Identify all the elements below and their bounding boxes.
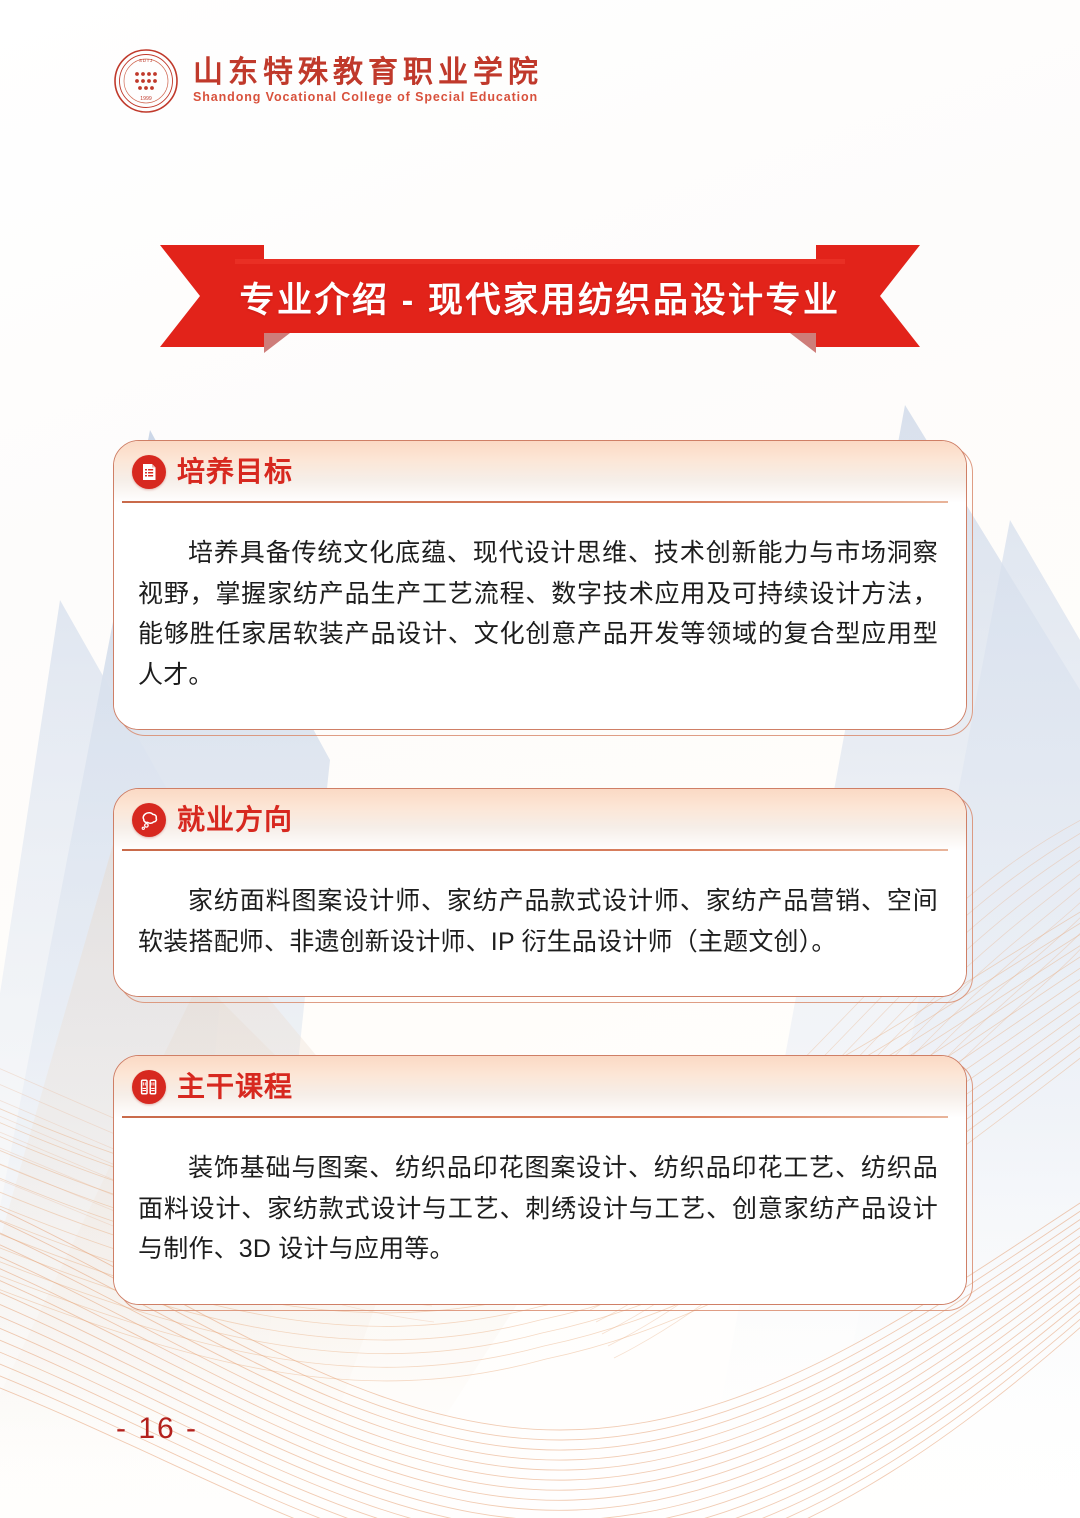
card-header: 就业方向: [114, 789, 966, 851]
card-body: 装饰基础与图案、纺织品印花图案设计、纺织品印花工艺、纺织品面料设计、家纺款式设计…: [114, 1118, 966, 1304]
card-header: 主干课程: [114, 1056, 966, 1118]
page-canvas: 1999 SDTJ 山东特殊教育职业学院 Shandong Vocational…: [0, 0, 1080, 1518]
card-header: 培养目标: [114, 441, 966, 503]
card-title: 就业方向: [177, 806, 293, 834]
svg-text:1999: 1999: [140, 96, 152, 102]
card-inner-frame: 就业方向 家纺面料图案设计师、家纺产品款式设计师、家纺产品营销、空间软装搭配师、…: [113, 788, 967, 997]
document-lines-icon: [132, 455, 166, 489]
card-body-text: 培养具备传统文化底蕴、现代设计思维、技术创新能力与市场洞察视野，掌握家纺产品生产…: [138, 533, 938, 695]
card-body: 培养具备传统文化底蕴、现代设计思维、技术创新能力与市场洞察视野，掌握家纺产品生产…: [114, 503, 966, 729]
college-seal-icon: 1999 SDTJ: [113, 48, 179, 114]
section-banner: 专业介绍 - 现代家用纺织品设计专业: [160, 233, 920, 359]
card-body: 家纺面料图案设计师、家纺产品款式设计师、家纺产品营销、空间软装搭配师、非遗创新设…: [114, 851, 966, 996]
card-body-text: 装饰基础与图案、纺织品印花图案设计、纺织品印花工艺、纺织品面料设计、家纺款式设计…: [138, 1148, 938, 1270]
card-training-objective: 培养目标 培养具备传统文化底蕴、现代设计思维、技术创新能力与市场洞察视野，掌握家…: [113, 440, 967, 730]
card-employment-direction: 就业方向 家纺面料图案设计师、家纺产品款式设计师、家纺产品营销、空间软装搭配师、…: [113, 788, 967, 997]
college-name-cn: 山东特殊教育职业学院: [193, 57, 543, 89]
books-shelf-icon: [132, 1070, 166, 1104]
card-inner-frame: 培养目标 培养具备传统文化底蕴、现代设计思维、技术创新能力与市场洞察视野，掌握家…: [113, 440, 967, 730]
card-inner-frame: 主干课程 装饰基础与图案、纺织品印花图案设计、纺织品印花工艺、纺织品面料设计、家…: [113, 1055, 967, 1305]
banner-title: 专业介绍 - 现代家用纺织品设计专业: [160, 233, 920, 359]
thought-bubble-icon: [132, 803, 166, 837]
content-area: 培养目标 培养具备传统文化底蕴、现代设计思维、技术创新能力与市场洞察视野，掌握家…: [113, 440, 967, 1363]
svg-text:SDTJ: SDTJ: [139, 58, 153, 63]
page-number: - 16 -: [116, 1412, 198, 1446]
card-body-text: 家纺面料图案设计师、家纺产品款式设计师、家纺产品营销、空间软装搭配师、非遗创新设…: [138, 881, 938, 962]
college-header: 1999 SDTJ 山东特殊教育职业学院 Shandong Vocational…: [113, 48, 543, 114]
college-name-en: Shandong Vocational College of Special E…: [193, 91, 543, 105]
card-title: 培养目标: [177, 458, 293, 486]
card-title: 主干课程: [177, 1073, 293, 1101]
card-core-courses: 主干课程 装饰基础与图案、纺织品印花图案设计、纺织品印花工艺、纺织品面料设计、家…: [113, 1055, 967, 1305]
